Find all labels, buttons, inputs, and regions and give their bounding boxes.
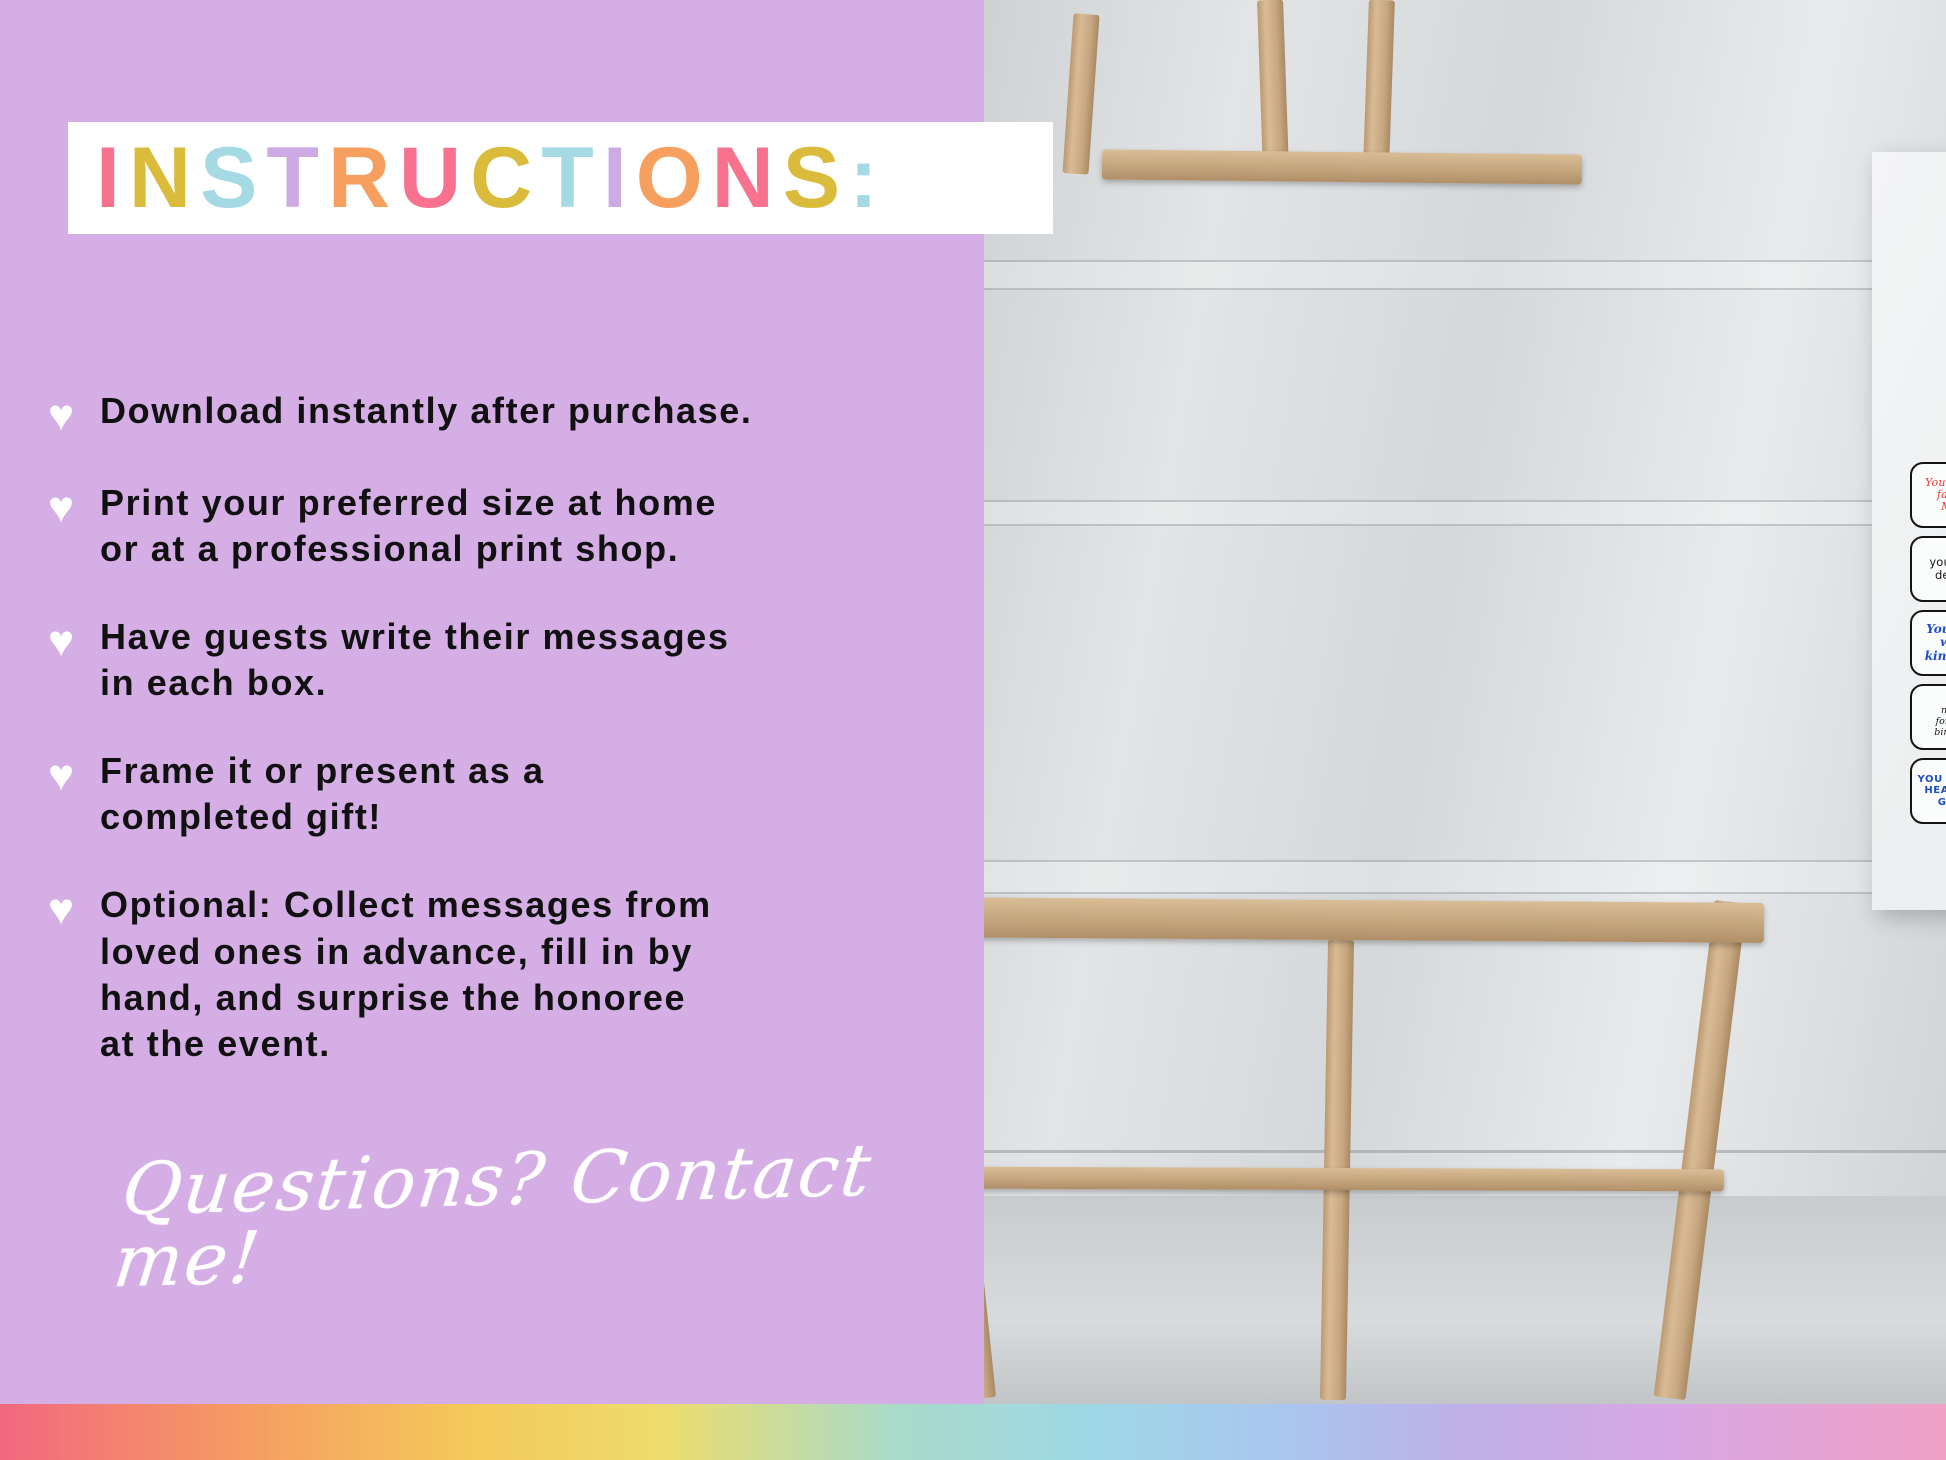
title-letter-2: S: [200, 135, 266, 221]
instruction-text: Optional: Collect messages from loved on…: [100, 882, 953, 1066]
title-letter-1: N: [129, 135, 200, 221]
poster-artwork: 30 REASONS you're so loved You're our fa…: [1872, 152, 1946, 910]
poster-listing-image: 30 REASONS you're so loved You're our fa…: [0, 0, 1946, 1460]
instruction-item: ♥Optional: Collect messages from loved o…: [48, 882, 953, 1066]
title-letter-6: C: [470, 135, 541, 221]
reasons-grid: You're our family MVPYou light up every …: [1910, 462, 1946, 824]
page-title: INSTRUCTIONS:: [96, 135, 887, 221]
instructions-list: ♥Download instantly after purchase.♥Prin…: [48, 388, 953, 1109]
baseboard-line: [984, 1150, 1946, 1153]
contact-script-text: Questions? Contact me!: [110, 1131, 993, 1298]
easel-top-crossbar: [1102, 149, 1582, 184]
easel-photo-scene: 30 REASONS you're so loved You're our fa…: [984, 0, 1946, 1404]
instruction-item: ♥Frame it or present as a completed gift…: [48, 748, 953, 840]
reason-text: You never forget a birthday: [1934, 696, 1946, 739]
title-letter-3: T: [266, 135, 328, 221]
instruction-text: Have guests write their messages in each…: [100, 614, 953, 706]
rainbow-strip: [0, 1404, 1946, 1460]
instructions-title-bar: INSTRUCTIONS:: [68, 122, 1053, 234]
poster-subtitle-wrap: you're so loved: [1872, 420, 1946, 449]
heart-icon: ♥: [48, 754, 100, 798]
title-letter-5: U: [399, 135, 470, 221]
reason-text: You're our family MVP: [1925, 477, 1946, 514]
easel-leg-back: [1062, 13, 1099, 174]
instruction-text: Print your preferred size at home or at …: [100, 480, 953, 572]
easel-lower-crossbar: [984, 1167, 1724, 1192]
reason-box: You're our family MVP: [1910, 462, 1946, 528]
instruction-item: ♥Print your preferred size at home or at…: [48, 480, 953, 572]
title-letter-0: I: [96, 135, 129, 221]
floor: [984, 1196, 1946, 1404]
reason-box: You lead with kindness: [1910, 610, 1946, 676]
reason-text: YOU HAVE A HEART OF GOLD: [1918, 774, 1946, 808]
heart-icon: ♥: [48, 394, 100, 438]
wall-moulding-line: [984, 288, 1946, 290]
reason-text: You lead with kindness: [1925, 623, 1946, 663]
instructions-panel: INSTRUCTIONS: ♥Download instantly after …: [0, 0, 984, 1404]
reason-text: you care deeply: [1929, 556, 1946, 582]
title-letter-9: O: [636, 135, 712, 221]
reason-box: YOU HAVE A HEART OF GOLD: [1910, 758, 1946, 824]
poster-reasons-word: REASONS: [1872, 370, 1946, 423]
wall-moulding-line: [984, 524, 1946, 526]
instruction-item: ♥Have guests write their messages in eac…: [48, 614, 953, 706]
easel-leg-top-left: [1257, 0, 1289, 170]
title-letter-4: R: [328, 135, 399, 221]
instruction-text: Frame it or present as a completed gift!: [100, 748, 953, 840]
wall-moulding-band: [984, 862, 1946, 892]
title-letter-10: N: [712, 135, 783, 221]
easel-leg-top-right: [1363, 0, 1395, 166]
heart-icon: ♥: [48, 620, 100, 664]
wall-moulding-band: [984, 502, 1946, 524]
heart-icon: ♥: [48, 888, 100, 932]
wall-moulding-line: [984, 892, 1946, 894]
poster-footer-text: With love from everyone who knows you be…: [1872, 856, 1946, 876]
instruction-text: Download instantly after purchase.: [100, 388, 953, 434]
reason-box: you care deeply: [1910, 536, 1946, 602]
title-letter-12: :: [849, 135, 887, 221]
instruction-item: ♥Download instantly after purchase.: [48, 388, 953, 438]
title-letter-8: I: [603, 135, 636, 221]
wall-moulding-band: [984, 262, 1946, 288]
title-letter-7: T: [541, 135, 603, 221]
easel-shelf: [984, 897, 1764, 943]
reason-box: You never forget a birthday: [1910, 684, 1946, 750]
heart-icon: ♥: [48, 486, 100, 530]
title-letter-11: S: [783, 135, 849, 221]
poster-number: 30: [1872, 214, 1946, 362]
